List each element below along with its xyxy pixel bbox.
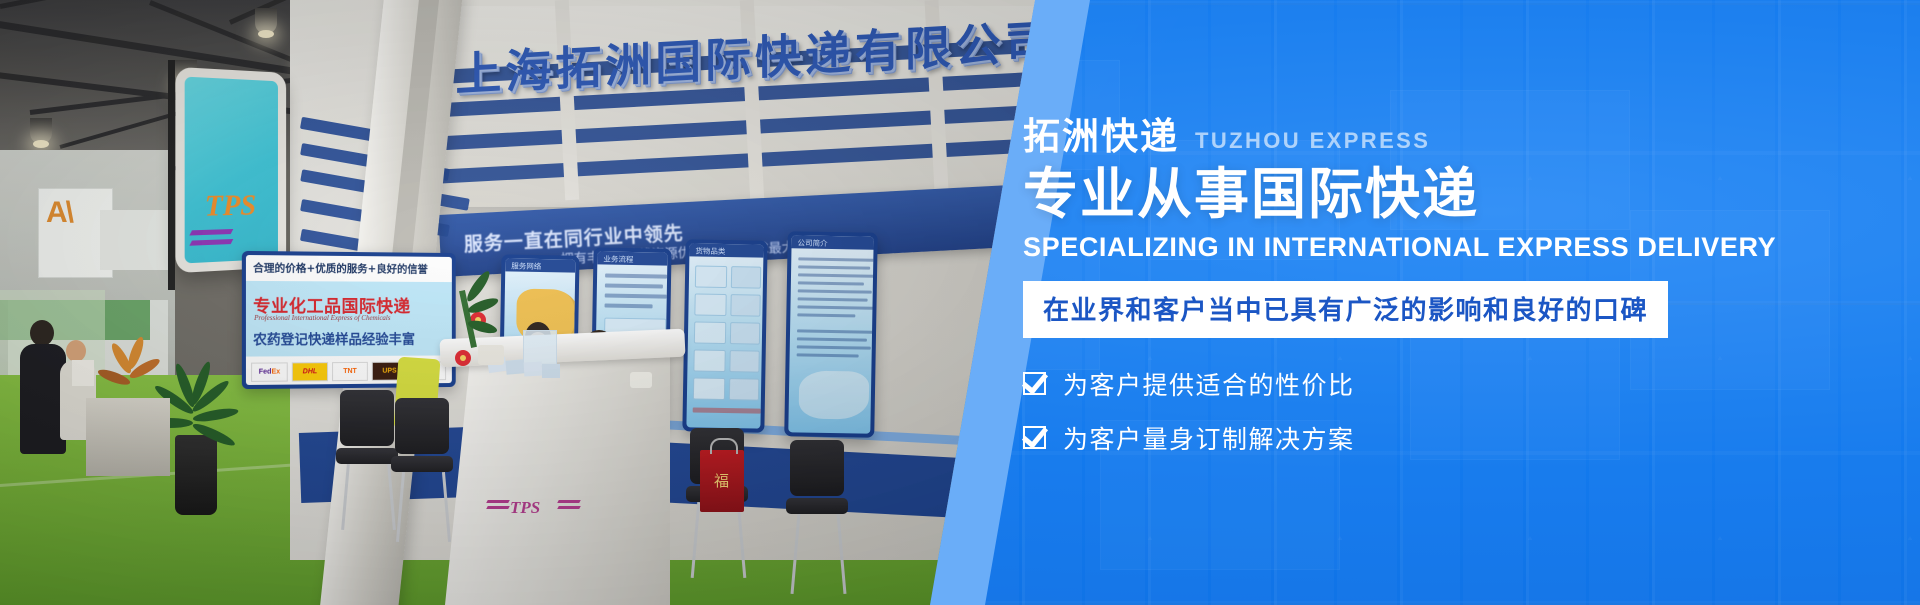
booth-photo: A\: [0, 0, 1035, 605]
poster-company-profile: 公司简介: [784, 231, 878, 438]
bullet-label: 为客户量身订制解决方案: [1063, 420, 1355, 456]
flower-decoration: [455, 350, 471, 366]
bullet-label: 为客户提供适合的性价比: [1063, 366, 1355, 402]
brand-row: 拓洲快递 TUZHOU EXPRESS: [1023, 118, 1883, 155]
promo-content: 拓洲快递 TUZHOU EXPRESS 专业从事国际快递 SPECIALIZIN…: [1023, 118, 1883, 474]
bullet-item: 为客户提供适合的性价比: [1023, 366, 1883, 402]
checkbox-checked-icon: [1023, 372, 1046, 395]
highlight-statement: 在业界和客户当中已具有广泛的影响和良好的口碑: [1023, 281, 1668, 338]
headline-cn: 专业从事国际快递: [1023, 163, 1883, 226]
gift-bag: [700, 450, 744, 512]
bullet-list: 为客户提供适合的性价比 为客户量身订制解决方案: [1023, 366, 1883, 456]
tnt-logo: TNT: [332, 362, 368, 381]
bullet-item: 为客户量身订制解决方案: [1023, 420, 1883, 456]
tps-logo-text: TPS: [205, 189, 256, 224]
poster-header-label: 货物品类: [695, 245, 725, 257]
desk-logo-text: TPS: [510, 498, 540, 518]
poster-line-blue: 农药登记快递样品经验丰富: [253, 328, 415, 348]
poster-header-label: 服务网络: [511, 261, 541, 273]
brand-name-en: TUZHOU EXPRESS: [1195, 130, 1430, 155]
desk-logo-stripes-right: [558, 500, 580, 512]
banner-stage: A\: [0, 0, 1920, 605]
poster-header-label: 业务流程: [603, 254, 633, 266]
tps-hanging-sign: TPS: [175, 67, 286, 273]
checkbox-checked-icon: [1023, 426, 1046, 449]
dhl-logo: DHL: [292, 362, 328, 381]
desk-logo-stripes-left: [487, 500, 509, 512]
ceiling-lamp: [255, 8, 277, 34]
poster-tagline: 合理的价格+优质的服务+良好的信誉: [253, 260, 428, 276]
poster-subtitle-en: Professional International Express of Ch…: [254, 314, 390, 322]
headline-en: SPECIALIZING IN INTERNATIONAL EXPRESS DE…: [1023, 232, 1883, 263]
ceiling-lamp: [30, 118, 52, 144]
tps-logo-stripes: [191, 229, 232, 251]
brand-name-cn: 拓洲快递: [1023, 118, 1179, 155]
fedex-logo: FedEx: [251, 362, 288, 382]
poster-header-label: 公司简介: [797, 237, 827, 249]
poster-cargo-types: 货物品类: [682, 239, 767, 432]
